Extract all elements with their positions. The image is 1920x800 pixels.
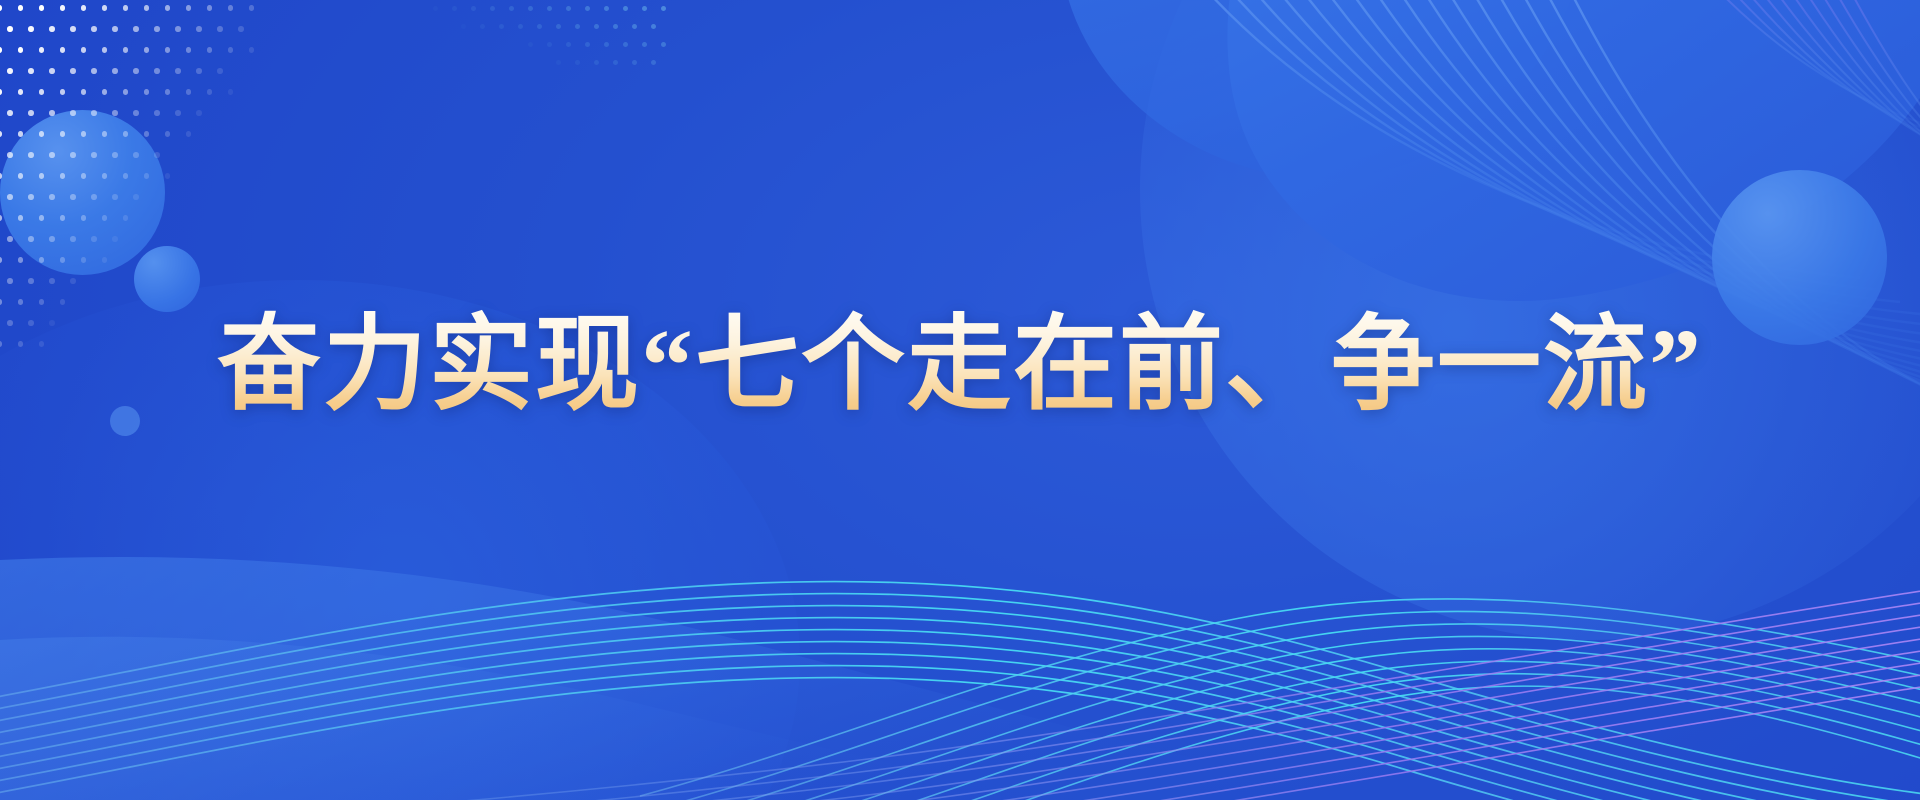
banner-title-wrapper: 奋力实现“七个走在前、争一流”: [0, 236, 1920, 495]
banner-title: 奋力实现“七个走在前、争一流”: [217, 306, 1703, 426]
banner-root: 奋力实现“七个走在前、争一流”: [0, 0, 1920, 800]
